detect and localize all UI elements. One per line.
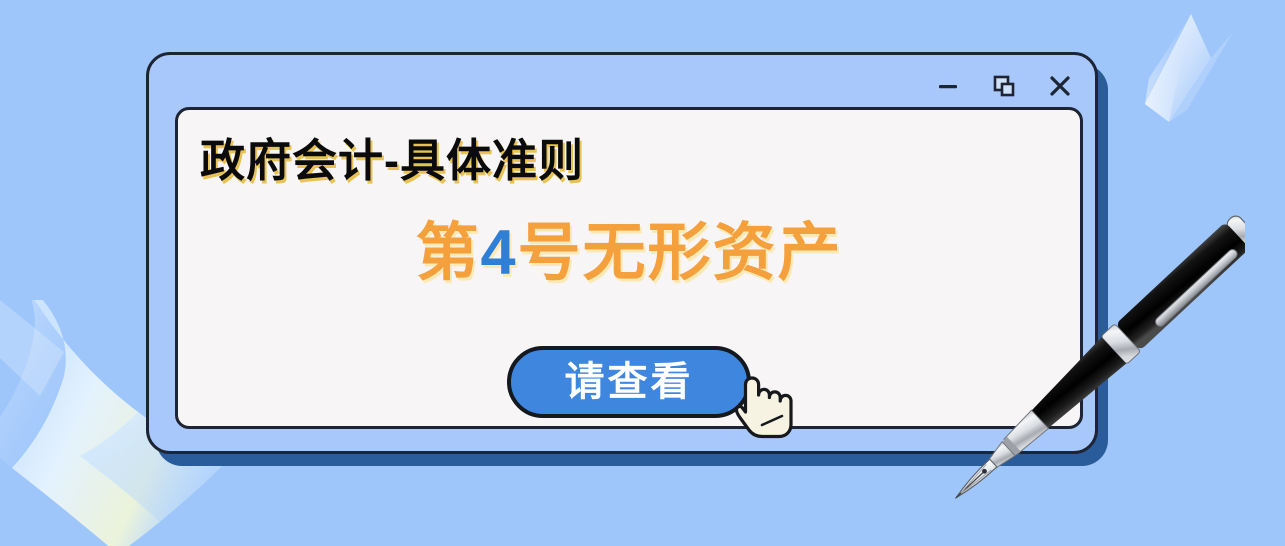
subtitle-text: 政府会计-具体准则 [200, 124, 584, 189]
app-window: 政府会计-具体准则 第4号无形资产 请查看 [146, 52, 1098, 454]
window-controls [933, 69, 1075, 103]
view-button[interactable]: 请查看 [507, 346, 751, 418]
main-title-prefix: 第 [415, 218, 480, 288]
content-card: 政府会计-具体准则 第4号无形资产 请查看 [175, 107, 1083, 429]
close-icon [1047, 73, 1073, 99]
poster-canvas: 政府会计-具体准则 第4号无形资产 请查看 [0, 0, 1285, 546]
close-button[interactable] [1045, 71, 1075, 101]
main-title-suffix: 号无形资产 [518, 218, 843, 288]
shard-top-right-decoration [1083, 6, 1263, 166]
restore-button[interactable] [989, 71, 1019, 101]
view-button-label: 请查看 [565, 362, 694, 402]
minimize-icon [935, 73, 961, 99]
main-title-number: 4 [480, 218, 517, 288]
minimize-button[interactable] [933, 71, 963, 101]
shard-left-decoration [0, 300, 140, 420]
restore-icon [991, 73, 1017, 99]
main-title: 第4号无形资产 [178, 202, 1080, 293]
